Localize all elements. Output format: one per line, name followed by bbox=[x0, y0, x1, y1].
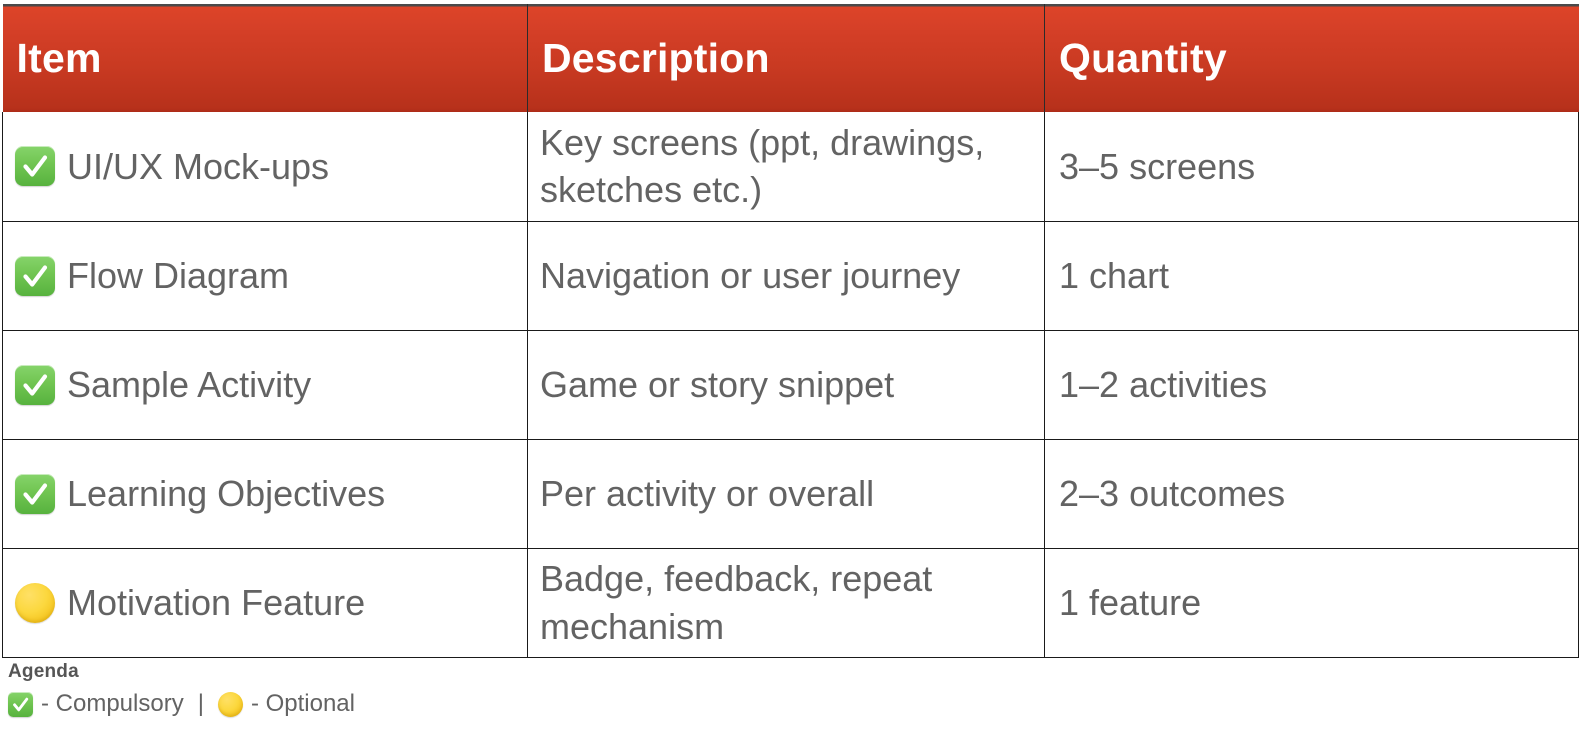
footer-title: Agenda bbox=[8, 661, 908, 683]
cell-description: Key screens (ppt, drawings, sketches etc… bbox=[528, 112, 1045, 221]
column-header-description: Description bbox=[528, 4, 1045, 112]
green-check-icon bbox=[15, 474, 55, 514]
green-check-icon bbox=[15, 256, 55, 296]
deliverables-table: Item Description Quantity UI/UX Mock-ups bbox=[2, 4, 1579, 658]
table-header-row: Item Description Quantity bbox=[3, 4, 1579, 112]
cell-quantity: 3–5 screens bbox=[1045, 112, 1579, 221]
footer: Agenda - Compulsory | - Optional bbox=[8, 661, 908, 718]
cell-description: Per activity or overall bbox=[528, 439, 1045, 548]
cell-description: Badge, feedback, repeat mechanism bbox=[528, 548, 1045, 657]
table-row: UI/UX Mock-ups Key screens (ppt, drawing… bbox=[3, 112, 1579, 221]
cell-item: Flow Diagram bbox=[3, 221, 528, 330]
column-header-quantity: Quantity bbox=[1045, 4, 1579, 112]
cell-description: Navigation or user journey bbox=[528, 221, 1045, 330]
yellow-circle-icon bbox=[218, 692, 243, 717]
slide-canvas: Item Description Quantity UI/UX Mock-ups bbox=[0, 0, 1584, 740]
item-label: Motivation Feature bbox=[67, 579, 365, 626]
table-row: Flow Diagram Navigation or user journey … bbox=[3, 221, 1579, 330]
table-row: Motivation Feature Badge, feedback, repe… bbox=[3, 548, 1579, 657]
legend-compulsory-label: - Compulsory bbox=[41, 690, 184, 718]
table-row: Sample Activity Game or story snippet 1–… bbox=[3, 330, 1579, 439]
yellow-circle-icon bbox=[15, 583, 55, 623]
cell-quantity: 1 chart bbox=[1045, 221, 1579, 330]
item-label: UI/UX Mock-ups bbox=[67, 143, 329, 190]
cell-item: Learning Objectives bbox=[3, 439, 528, 548]
legend-optional-label: - Optional bbox=[251, 690, 355, 718]
cell-quantity: 1–2 activities bbox=[1045, 330, 1579, 439]
cell-item: Sample Activity bbox=[3, 330, 528, 439]
table-header: Item Description Quantity bbox=[3, 4, 1579, 112]
cell-item: Motivation Feature bbox=[3, 548, 528, 657]
table-body: UI/UX Mock-ups Key screens (ppt, drawing… bbox=[3, 112, 1579, 657]
legend-separator: | bbox=[192, 690, 210, 718]
column-header-item: Item bbox=[3, 4, 528, 112]
green-check-icon bbox=[15, 146, 55, 186]
cell-item: UI/UX Mock-ups bbox=[3, 112, 528, 221]
cell-quantity: 1 feature bbox=[1045, 548, 1579, 657]
cell-quantity: 2–3 outcomes bbox=[1045, 439, 1579, 548]
cell-description: Game or story snippet bbox=[528, 330, 1045, 439]
green-check-icon bbox=[8, 692, 33, 717]
item-label: Sample Activity bbox=[67, 361, 311, 408]
legend: - Compulsory | - Optional bbox=[8, 690, 908, 718]
item-label: Learning Objectives bbox=[67, 470, 385, 517]
table-row: Learning Objectives Per activity or over… bbox=[3, 439, 1579, 548]
green-check-icon bbox=[15, 365, 55, 405]
item-label: Flow Diagram bbox=[67, 252, 289, 299]
